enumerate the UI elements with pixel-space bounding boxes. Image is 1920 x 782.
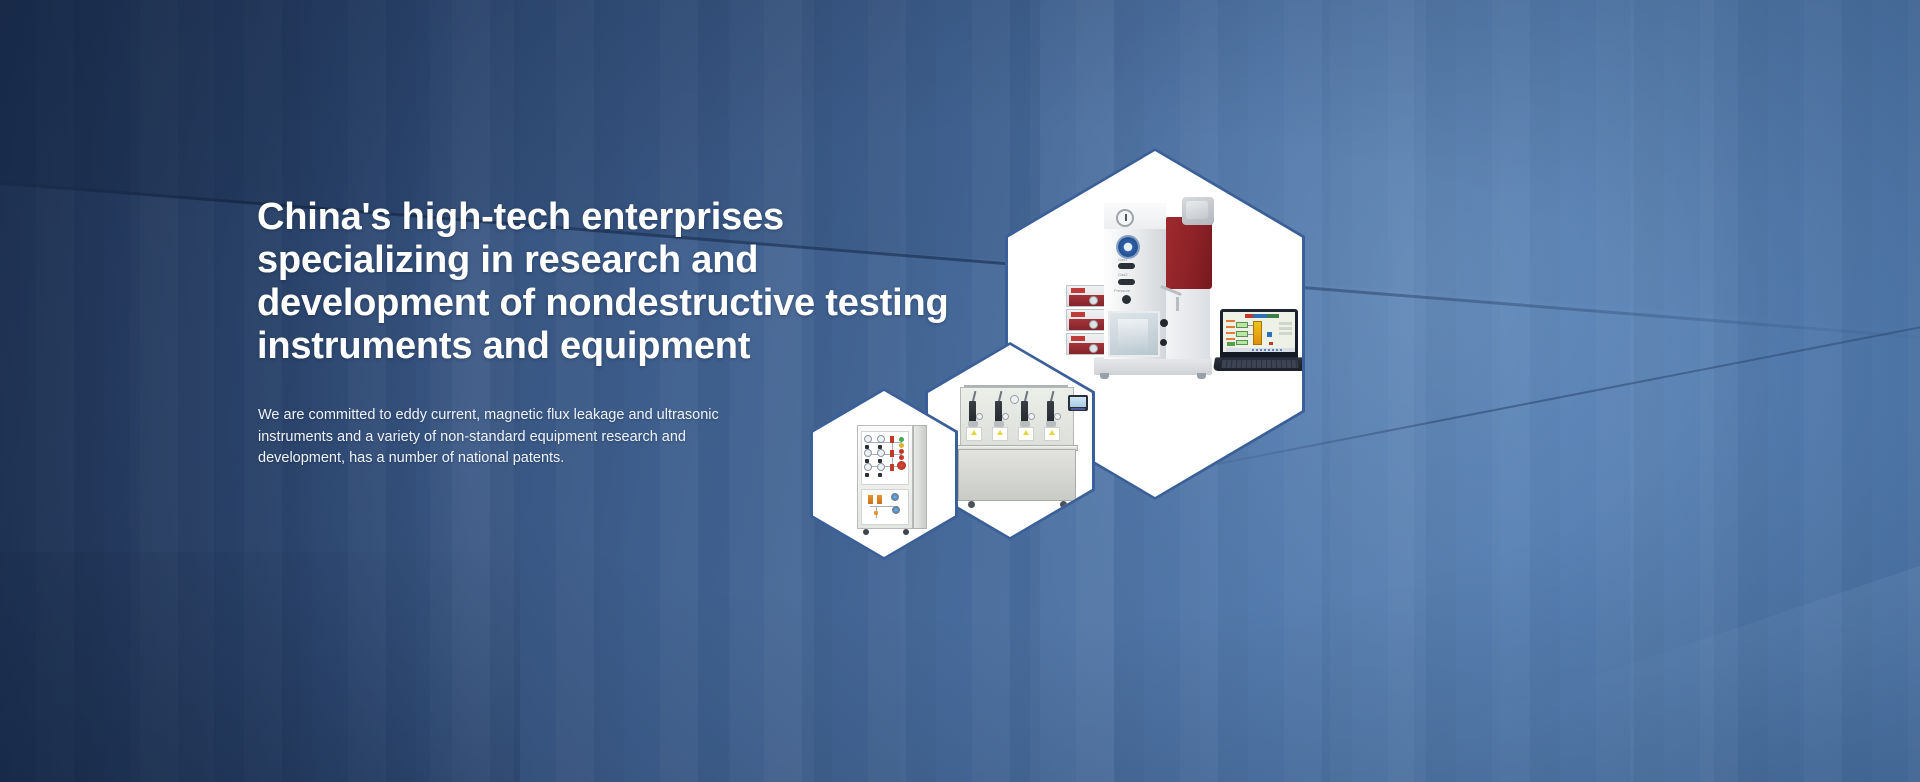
caster-wheel	[863, 529, 869, 535]
indicator-lamp-stack	[899, 437, 904, 459]
analyzer-foot	[1197, 373, 1206, 379]
manifold-pipe	[964, 385, 1068, 387]
scada-valve	[1267, 332, 1272, 337]
laptop-screen	[1220, 309, 1298, 359]
analyzer-foot	[1100, 373, 1109, 379]
hero-banner: China's high-tech enterprises specializi…	[0, 0, 1920, 782]
laptop-keyboard	[1213, 357, 1302, 371]
scada-column-tank	[1253, 321, 1262, 345]
pressure-gauge-icon	[1116, 209, 1134, 227]
reactor-station	[1016, 391, 1038, 449]
touchscreen-hmi	[1068, 395, 1088, 411]
lower-instrument-panel	[861, 489, 909, 525]
pump-module	[1066, 285, 1106, 307]
scada-block	[1236, 331, 1248, 337]
hexagon-image-mask	[813, 391, 955, 557]
analyzer-connector-drop	[1176, 297, 1179, 311]
caster-wheel	[903, 529, 909, 535]
emergency-stop-button	[897, 461, 906, 470]
photo-control-cabinet	[813, 391, 955, 557]
scada-sensor-column	[1226, 320, 1235, 342]
analyzer-red-panel	[1166, 217, 1212, 289]
reactor-station	[990, 391, 1012, 449]
scada-alarm	[1269, 342, 1273, 345]
gas2-label: Gas2	[1118, 272, 1128, 277]
scada-readout	[1279, 332, 1292, 335]
scada-block	[1236, 340, 1248, 345]
taskbar-icons	[1252, 349, 1282, 352]
gear-valve-icon	[1118, 237, 1138, 257]
blue-handwheel	[891, 493, 899, 501]
reactor-station	[1042, 391, 1064, 449]
gas1-label: Gas1	[1118, 257, 1128, 262]
sample-chamber	[1108, 311, 1160, 357]
scada-readout	[1279, 322, 1292, 325]
scada-readout	[1279, 327, 1292, 330]
caster-wheel	[968, 501, 975, 508]
analyzer-top-panel	[1104, 203, 1166, 229]
keyboard-keys	[1221, 360, 1298, 368]
cabinet-body	[958, 449, 1076, 501]
gauge-array	[864, 435, 894, 479]
taskbar	[1226, 348, 1295, 352]
hexagon-control-cabinet	[810, 388, 958, 560]
scada-block	[1236, 322, 1248, 328]
scada-header	[1245, 314, 1279, 318]
cabinet-side-panel	[913, 425, 927, 529]
chamber-handle-lower	[1160, 339, 1167, 346]
gas1-toggle	[1118, 263, 1135, 269]
scada-status	[1227, 342, 1235, 346]
chamber-handle	[1160, 319, 1168, 327]
product-hexagon-cluster: Gas1 Gas2 Pressure	[790, 130, 1350, 560]
hero-description: We are committed to eddy current, magnet…	[258, 405, 753, 470]
analyzer-insulation-jacket	[1182, 197, 1214, 225]
analyzer-base	[1094, 357, 1212, 375]
reactor-station	[964, 391, 986, 449]
laptop-display	[1223, 312, 1295, 352]
pressure-knob	[1122, 295, 1131, 304]
gas2-toggle	[1118, 279, 1135, 285]
pump-module	[1066, 309, 1106, 331]
pressure-label: Pressure	[1114, 288, 1130, 293]
